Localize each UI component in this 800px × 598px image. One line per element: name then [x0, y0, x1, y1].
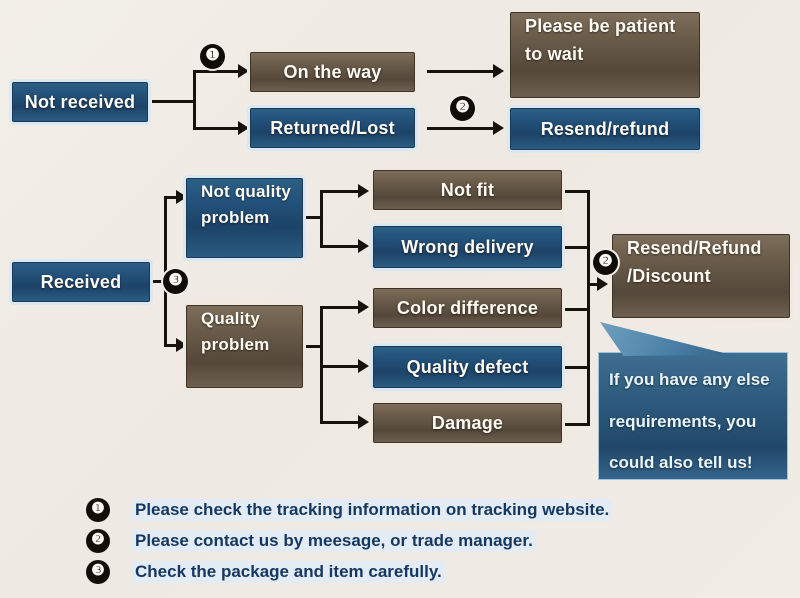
node-received[interactable]: Received	[12, 262, 150, 302]
arrow-to-damage	[358, 415, 369, 429]
node-wrong-delivery[interactable]: Wrong delivery	[373, 226, 562, 268]
node-received-label: Received	[13, 265, 149, 299]
speech-bubble-body: If you have any else requirements, you c…	[598, 352, 788, 480]
legend-row: ❶ Please check the tracking information …	[86, 494, 736, 525]
connector-to-on-the-way	[193, 70, 241, 73]
node-returned-lost[interactable]: Returned/Lost	[250, 108, 415, 148]
node-resend-refund-top-label: Resend/refund	[511, 112, 699, 146]
legend-row: ❷ Please contact us by meesage, or trade…	[86, 525, 736, 556]
connector-to-quality-defect	[320, 365, 362, 368]
node-not-fit-label: Not fit	[374, 173, 561, 207]
node-quality-defect[interactable]: Quality defect	[373, 346, 562, 388]
node-resend-refund-top[interactable]: Resend/refund	[510, 108, 700, 150]
connector-quality-bus	[320, 306, 323, 421]
node-color-difference-label: Color difference	[374, 291, 561, 325]
arrow-to-quality-defect	[358, 359, 369, 373]
node-damage[interactable]: Damage	[373, 403, 562, 443]
legend-row: ❸ Check the package and item carefully.	[86, 556, 736, 587]
speech-bubble-line1: If you have any else	[609, 359, 777, 401]
arrow-to-wrong-delivery	[358, 239, 369, 253]
legend-text-one: Please check the tracking information on…	[132, 499, 612, 521]
legend: ❶ Please check the tracking information …	[86, 494, 736, 587]
connector-to-damage	[320, 421, 362, 424]
legend-text-three: Check the package and item carefully.	[132, 561, 445, 583]
legend-marker-two-glyph: ❷	[91, 532, 104, 547]
node-quality-problem[interactable]: Quality problem	[186, 305, 303, 388]
arrow-to-please-be-patient	[493, 64, 504, 78]
badge-two-merge-label: ❷	[598, 254, 612, 270]
connector-to-wrong-delivery	[320, 245, 362, 248]
legend-marker-two: ❷	[86, 529, 110, 553]
arrow-to-not-fit	[358, 184, 369, 198]
connector-not-received-stem	[152, 100, 196, 103]
speech-bubble: If you have any else requirements, you c…	[598, 322, 790, 482]
arrow-to-returned-lost	[238, 121, 249, 135]
connector-not-received-bus	[193, 70, 196, 130]
badge-one-top: ❶	[200, 44, 225, 69]
node-resend-refund-discount-line1: Resend/Refund	[627, 235, 789, 263]
legend-marker-one: ❶	[86, 498, 110, 522]
legend-marker-three-glyph: ❸	[91, 563, 104, 578]
node-please-be-patient-line1: Please be patient	[525, 13, 699, 41]
connector-on-the-way-to-patient	[427, 70, 495, 73]
speech-bubble-line2: requirements, you	[609, 401, 777, 443]
node-not-received-label: Not received	[13, 85, 147, 119]
node-not-quality-problem[interactable]: Not quality problem	[186, 178, 303, 258]
connector-not-quality-bus	[320, 190, 323, 248]
connector-returned-to-resend	[427, 127, 495, 130]
arrow-to-on-the-way	[238, 64, 249, 78]
node-not-fit[interactable]: Not fit	[373, 170, 562, 210]
node-resend-refund-discount-line2: /Discount	[627, 263, 789, 291]
node-resend-refund-discount[interactable]: Resend/Refund /Discount	[612, 234, 790, 318]
connector-to-color-difference	[320, 306, 362, 309]
legend-text-two: Please contact us by meesage, or trade m…	[132, 530, 536, 552]
node-returned-lost-label: Returned/Lost	[251, 111, 414, 145]
connector-to-not-fit	[320, 190, 362, 193]
node-wrong-delivery-label: Wrong delivery	[374, 230, 561, 264]
arrow-to-color-difference	[358, 300, 369, 314]
node-not-quality-problem-line2: problem	[201, 205, 302, 231]
node-not-quality-problem-line1: Not quality	[201, 179, 302, 205]
badge-two-top: ❷	[450, 96, 475, 121]
node-quality-problem-line1: Quality	[201, 306, 302, 332]
arrow-to-resend-refund	[493, 121, 504, 135]
node-quality-problem-line2: problem	[201, 332, 302, 358]
flowchart-canvas: Not received ❶ On the way Returned/Lost …	[0, 0, 800, 598]
node-quality-defect-label: Quality defect	[374, 350, 561, 384]
badge-two-top-label: ❷	[455, 100, 469, 116]
arrow-to-resend-refund-discount	[597, 277, 608, 291]
node-not-received[interactable]: Not received	[12, 82, 148, 122]
badge-two-merge: ❷	[593, 250, 618, 275]
speech-bubble-tail	[600, 322, 730, 356]
node-on-the-way-label: On the way	[251, 55, 414, 89]
node-please-be-patient-to-wait[interactable]: Please be patient to wait	[510, 12, 700, 98]
node-damage-label: Damage	[374, 406, 561, 440]
speech-bubble-line3: could also tell us!	[609, 442, 777, 484]
node-on-the-way[interactable]: On the way	[250, 52, 415, 92]
node-please-be-patient-line2: to wait	[525, 41, 699, 69]
legend-marker-three: ❸	[86, 560, 110, 584]
connector-merge-bus	[587, 190, 590, 426]
badge-three-received: ❸	[163, 269, 188, 294]
badge-one-top-label: ❶	[205, 48, 219, 64]
node-color-difference[interactable]: Color difference	[373, 288, 562, 328]
connector-to-returned-lost	[193, 127, 241, 130]
legend-marker-one-glyph: ❶	[91, 501, 104, 516]
badge-three-received-label: ❸	[168, 273, 182, 289]
